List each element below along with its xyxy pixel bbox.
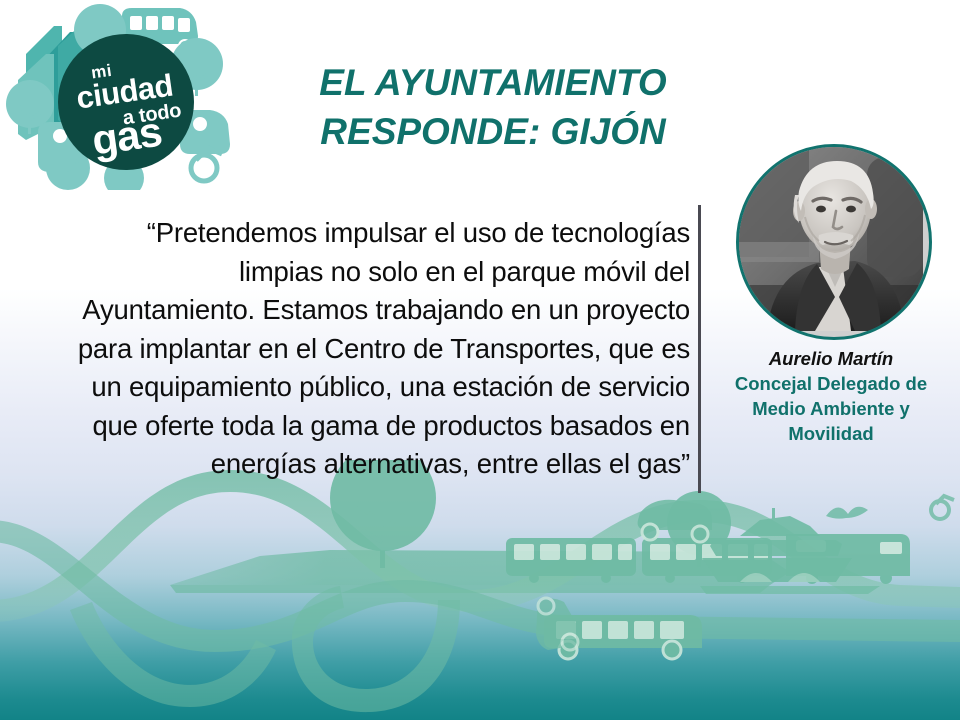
quote-line: “Pretendemos impulsar el uso de tecnolog… <box>18 214 690 253</box>
speaker-name: Aurelio Martín <box>706 346 956 371</box>
page-title: EL AYUNTAMIENTO RESPONDE: GIJÓN <box>248 58 738 156</box>
quote-line: energías alternativas, entre ellas el ga… <box>18 445 690 484</box>
quote-line: limpias no solo en el parque móvil del <box>18 253 690 292</box>
attribution: Aurelio Martín Concejal Delegado de Medi… <box>706 346 956 446</box>
quote-line: Ayuntamiento. Estamos trabajando en un p… <box>18 291 690 330</box>
quote-text: “Pretendemos impulsar el uso de tecnolog… <box>18 214 690 484</box>
quote-line: para implantar en el Centro de Transport… <box>18 330 690 369</box>
vertical-divider <box>698 205 701 493</box>
quote-line: un equipamiento público, una estación de… <box>18 368 690 407</box>
presentation-slide: mi ciudad a todo gas EL AYUNTAMIENTO RES… <box>0 0 960 720</box>
car-icon <box>536 598 581 650</box>
mobility-illustration <box>0 460 960 720</box>
bicycle-icon <box>931 496 954 519</box>
speaker-role-line: Movilidad <box>706 421 956 446</box>
avatar <box>736 144 932 340</box>
title-line-1: EL AYUNTAMIENTO <box>319 62 666 103</box>
speaker-role-line: Medio Ambiente y <box>706 396 956 421</box>
quote-line: que oferte toda la gama de productos bas… <box>18 407 690 446</box>
brand-logo: mi ciudad a todo gas <box>4 2 236 190</box>
bird-icon <box>826 507 868 519</box>
title-line-2: RESPONDE: GIJÓN <box>320 111 665 152</box>
speaker-role-line: Concejal Delegado de <box>706 371 956 396</box>
logo-line-4: gas <box>89 108 164 164</box>
